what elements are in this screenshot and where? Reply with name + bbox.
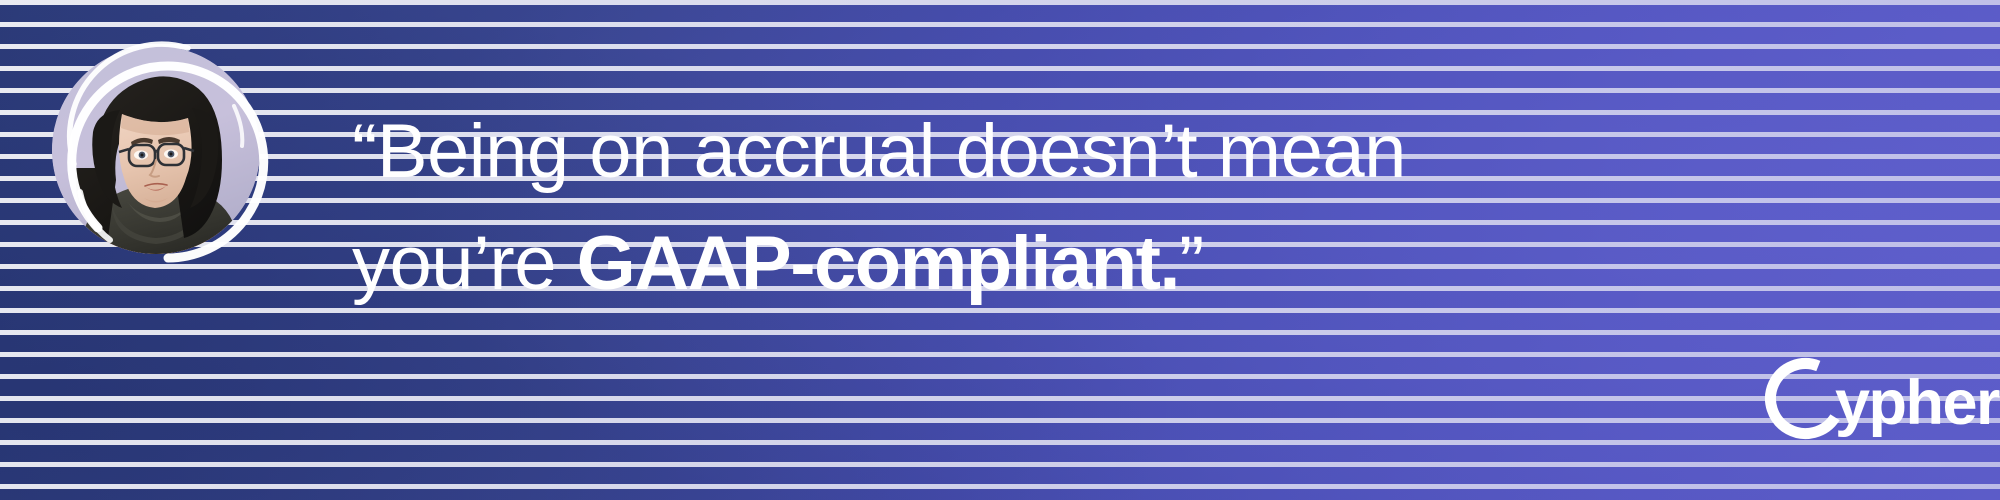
cypher-c-icon	[1755, 352, 1847, 448]
quote-block: “Being on accrual doesn’t mean you’re GA…	[352, 96, 1672, 320]
quote-line-1: “Being on accrual doesn’t mean	[352, 96, 1672, 208]
close-quote-mark: ”	[1179, 221, 1204, 306]
avatar	[38, 32, 274, 268]
quote-line-1-text: Being on accrual doesn’t mean	[377, 109, 1406, 194]
quote-line-2-regular: you’re	[352, 221, 577, 306]
quote-banner: “Being on accrual doesn’t mean you’re GA…	[0, 0, 2000, 500]
cypher-wordmark: ypher	[1835, 372, 1999, 435]
open-quote-mark: “	[352, 109, 377, 194]
quote-line-2: you’re GAAP-compliant.”	[352, 208, 1672, 320]
avatar-photo	[52, 46, 260, 254]
quote-line-2-emphasis: GAAP-compliant.	[577, 221, 1179, 306]
cypher-logo[interactable]: ypher	[1755, 352, 1999, 448]
